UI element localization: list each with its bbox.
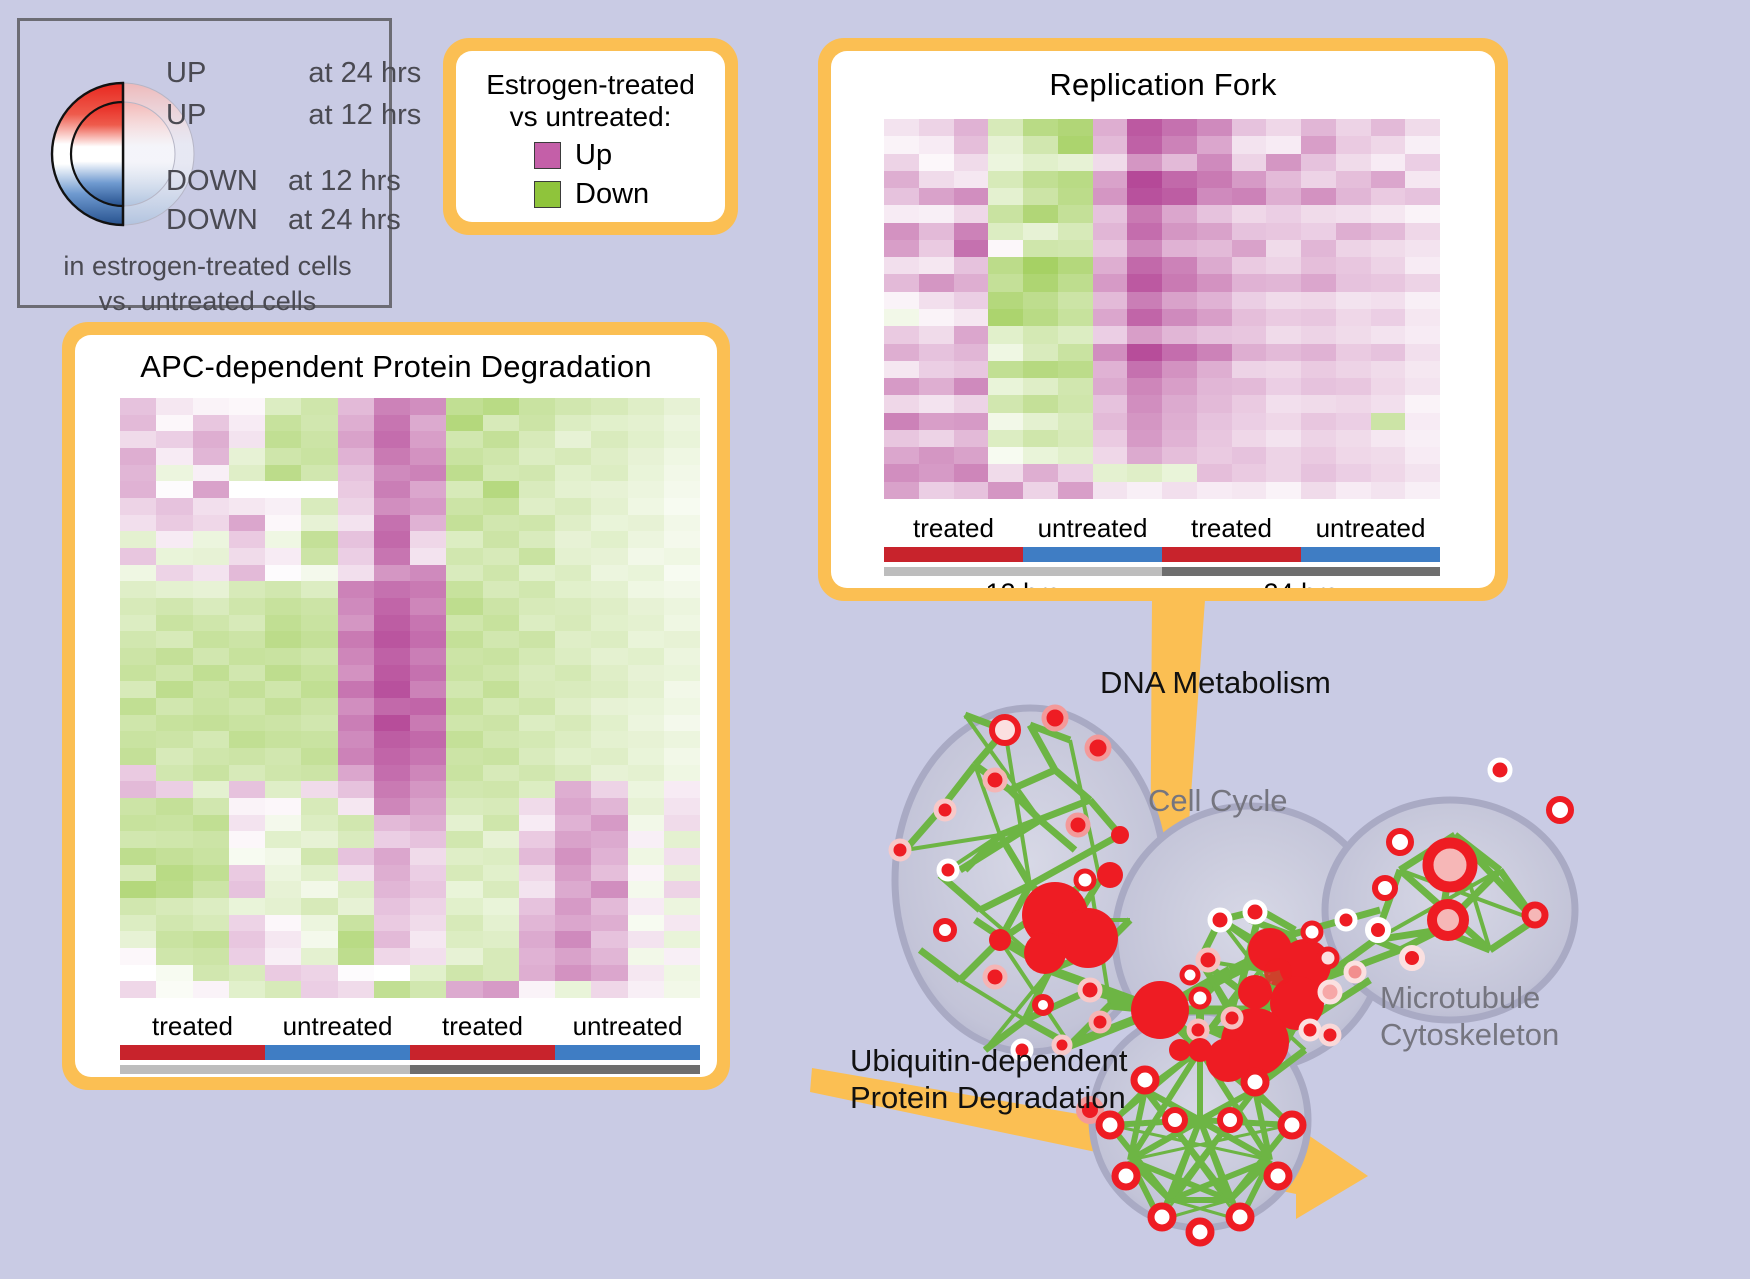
heatmap-cell <box>156 415 192 432</box>
heatmap-cell <box>1093 136 1128 153</box>
heatmap-cell <box>1197 430 1232 447</box>
heatmap-cell <box>628 448 664 465</box>
heatmap-cell <box>1405 395 1440 412</box>
heatmap-cell <box>591 665 627 682</box>
heatmap-cell <box>338 498 374 515</box>
heatmap-cell <box>265 615 301 632</box>
time-bar-rf-0 <box>884 567 1162 576</box>
heatmap-cell <box>1371 361 1406 378</box>
heatmap-cell <box>519 415 555 432</box>
heatmap-cell <box>988 395 1023 412</box>
heatmap-cell <box>1266 447 1301 464</box>
heatmap-cell <box>519 865 555 882</box>
heatmap-cell <box>410 415 446 432</box>
heatmap-cell <box>483 481 519 498</box>
heatmap-cell <box>591 598 627 615</box>
heatmap-cell <box>988 240 1023 257</box>
heatmap-cell <box>265 498 301 515</box>
heatmap-cell <box>1405 205 1440 222</box>
heatmap-cell <box>374 848 410 865</box>
heatmap-cell <box>265 798 301 815</box>
heatmap-cell <box>519 498 555 515</box>
heatmap-cell <box>1371 395 1406 412</box>
heatmap-cell <box>591 698 627 715</box>
heatmap-cell <box>664 431 700 448</box>
heatmap-cell <box>1232 395 1267 412</box>
heatmap-cell <box>446 481 482 498</box>
heatmap-cell <box>483 965 519 982</box>
heatmap-cell <box>301 548 337 565</box>
heatmap-cell <box>1232 326 1267 343</box>
heatmap-cell <box>1162 464 1197 481</box>
panel-title-replication-fork: Replication Fork <box>831 51 1495 103</box>
heatmap-cell <box>1405 309 1440 326</box>
heatmap-cell <box>1301 430 1336 447</box>
heatmap-cell <box>120 831 156 848</box>
heatmap-cell <box>374 798 410 815</box>
heatmap-cell <box>1266 344 1301 361</box>
time-bar-apc-1 <box>410 1065 700 1074</box>
heatmap-cell <box>664 898 700 915</box>
heatmap-cell <box>120 431 156 448</box>
heatmap-cell <box>1197 395 1232 412</box>
heatmap-cell <box>1371 430 1406 447</box>
heatmap-cell <box>1197 344 1232 361</box>
heatmap-cell <box>229 398 265 415</box>
heatmap-cell <box>120 665 156 682</box>
heatmap-cell <box>483 415 519 432</box>
heatmap-cell <box>374 615 410 632</box>
heatmap-cell <box>555 548 591 565</box>
heatmap-cell <box>1405 464 1440 481</box>
heatmap-cell <box>1336 309 1371 326</box>
heatmap-cell <box>229 598 265 615</box>
heatmap-cell <box>374 648 410 665</box>
group-labels-rf: treated untreated treated untreated <box>884 513 1440 544</box>
heatmap-cell <box>884 447 919 464</box>
heatmap-cell <box>555 415 591 432</box>
heatmap-cell <box>555 498 591 515</box>
heatmap-cell <box>519 598 555 615</box>
heatmap-cell <box>954 205 989 222</box>
heatmap-cell <box>265 815 301 832</box>
heatmap-cell <box>555 748 591 765</box>
heatmap-cell <box>1023 395 1058 412</box>
heatmap-cell <box>483 431 519 448</box>
heatmap-cell <box>193 781 229 798</box>
heatmap-cell <box>954 344 989 361</box>
heatmap-cell <box>1093 395 1128 412</box>
heatmap-cell <box>483 865 519 882</box>
heatmap-cell <box>265 665 301 682</box>
heatmap-cell <box>1093 430 1128 447</box>
heatmap-cell <box>1162 344 1197 361</box>
heatmap-cell <box>1301 309 1336 326</box>
heatmap-cell <box>1266 223 1301 240</box>
heatmap-cell <box>1023 344 1058 361</box>
heatmap-cell <box>1301 482 1336 499</box>
heatmap-cell <box>954 292 989 309</box>
heatmap-cell <box>519 431 555 448</box>
heatmap-cell <box>1371 378 1406 395</box>
heatmap-cell <box>1162 447 1197 464</box>
heatmap-cell <box>193 698 229 715</box>
heatmap-cell <box>338 848 374 865</box>
heatmap-cell <box>1162 257 1197 274</box>
heatmap-cell <box>193 915 229 932</box>
heatmap-cell <box>1023 413 1058 430</box>
heatmap-cell <box>1058 136 1093 153</box>
heatmap-cell <box>1266 274 1301 291</box>
group-label-rf-3: untreated <box>1301 513 1440 544</box>
heatmap-cell <box>193 431 229 448</box>
heatmap-cell <box>954 413 989 430</box>
heatmap-cell <box>1336 395 1371 412</box>
heatmap-cell <box>628 631 664 648</box>
heatmap-cell <box>519 615 555 632</box>
heatmap-cell <box>229 615 265 632</box>
heatmap-cell <box>884 188 919 205</box>
heatmap-cell <box>1127 154 1162 171</box>
heatmap-cell <box>374 631 410 648</box>
heatmap-cell <box>265 515 301 532</box>
heatmap-cell <box>1093 223 1128 240</box>
heatmap-cell <box>1232 188 1267 205</box>
heatmap-cell <box>338 898 374 915</box>
heatmap-cell <box>120 465 156 482</box>
heatmap-cell <box>1023 119 1058 136</box>
heatmap-cell <box>591 615 627 632</box>
heatmap-cell <box>555 865 591 882</box>
heatmap-cell <box>120 498 156 515</box>
group-label-rf-1: untreated <box>1023 513 1162 544</box>
heatmap-cell <box>555 615 591 632</box>
heatmap-cell <box>374 415 410 432</box>
heatmap-cell <box>446 431 482 448</box>
heatmap-cell <box>156 465 192 482</box>
heatmap-cell <box>156 581 192 598</box>
heatmap-cell <box>555 948 591 965</box>
heatmap-cell <box>193 948 229 965</box>
heatmap-cell <box>555 798 591 815</box>
heatmap-replication-fork <box>884 119 1440 499</box>
heatmap-cell <box>1371 154 1406 171</box>
heatmap-cell <box>301 598 337 615</box>
heatmap-cell <box>555 681 591 698</box>
heatmap-cell <box>1336 136 1371 153</box>
heatmap-cell <box>664 515 700 532</box>
heatmap-cell <box>1093 119 1128 136</box>
heatmap-cell <box>1093 344 1128 361</box>
heatmap-cell <box>156 898 192 915</box>
heatmap-cell <box>338 731 374 748</box>
heatmap-cell <box>1371 136 1406 153</box>
heatmap-cell <box>988 119 1023 136</box>
heatmap-cell <box>229 881 265 898</box>
heatmap-cell <box>1336 240 1371 257</box>
heatmap-cell <box>156 965 192 982</box>
heatmap-cell <box>229 431 265 448</box>
heatmap-cell <box>193 765 229 782</box>
heatmap-cell <box>265 648 301 665</box>
heatmap-cell <box>1266 205 1301 222</box>
heatmap-cell <box>301 981 337 998</box>
heatmap-cell <box>265 698 301 715</box>
group-bar-apc-1 <box>265 1045 410 1060</box>
heatmap-cell <box>301 931 337 948</box>
heatmap-cell <box>664 715 700 732</box>
heatmap-cell <box>301 448 337 465</box>
heatmap-cell <box>519 681 555 698</box>
heatmap-cell <box>410 781 446 798</box>
heatmap-cell <box>988 292 1023 309</box>
heatmap-cell <box>884 326 919 343</box>
heatmap-cell <box>193 931 229 948</box>
heatmap-cell <box>1127 274 1162 291</box>
heatmap-cell <box>1023 292 1058 309</box>
heatmap-cell <box>1301 274 1336 291</box>
heatmap-cell <box>1197 205 1232 222</box>
heatmap-cell <box>628 748 664 765</box>
heatmap-cell <box>483 648 519 665</box>
heatmap-cell <box>1301 205 1336 222</box>
heatmap-cell <box>1127 413 1162 430</box>
heatmap-cell <box>338 531 374 548</box>
heatmap-cell <box>374 881 410 898</box>
heatmap-cell <box>519 715 555 732</box>
heatmap-cell <box>884 430 919 447</box>
network-label-microtubule-cytoskeleton: Microtubule Cytoskeleton <box>1380 980 1559 1053</box>
heatmap-cell <box>591 548 627 565</box>
heatmap-cell <box>1301 119 1336 136</box>
heatmap-cell <box>1058 240 1093 257</box>
heatmap-cell <box>1371 223 1406 240</box>
heatmap-cell <box>338 915 374 932</box>
heatmap-cell <box>265 831 301 848</box>
heatmap-cell <box>1371 309 1406 326</box>
heatmap-cell <box>591 681 627 698</box>
heatmap-cell <box>1336 413 1371 430</box>
group-bar-apc-3 <box>555 1045 700 1060</box>
heatmap-cell <box>1058 326 1093 343</box>
heatmap-cell <box>628 965 664 982</box>
heatmap-cell <box>193 415 229 432</box>
heatmap-cell <box>156 931 192 948</box>
heatmap-cell <box>519 831 555 848</box>
heatmap-cell <box>446 831 482 848</box>
heatmap-cell <box>1197 326 1232 343</box>
heatmap-cell <box>1405 482 1440 499</box>
heatmap-cell <box>156 698 192 715</box>
heatmap-cell <box>193 581 229 598</box>
heatmap-cell <box>120 398 156 415</box>
heatmap-cell <box>156 748 192 765</box>
heatmap-cell <box>664 681 700 698</box>
heatmap-cell <box>1093 240 1128 257</box>
heatmap-cell <box>156 731 192 748</box>
heatmap-cell <box>1301 257 1336 274</box>
group-bar-rf-2 <box>1162 547 1301 562</box>
heatmap-cell <box>374 481 410 498</box>
heatmap-cell <box>120 681 156 698</box>
heatmap-cell <box>374 465 410 482</box>
heatmap-cell <box>1405 326 1440 343</box>
heatmap-cell <box>1127 361 1162 378</box>
heatmap-cell <box>410 581 446 598</box>
heatmap-cell <box>1162 223 1197 240</box>
heatmap-cell <box>120 731 156 748</box>
heatmap-cell <box>301 398 337 415</box>
heatmap-cell <box>1162 326 1197 343</box>
heatmap-cell <box>555 665 591 682</box>
time-label-rf-0: 12 hrs <box>884 578 1162 588</box>
heatmap-cell <box>446 781 482 798</box>
heatmap-cell <box>483 498 519 515</box>
heatmap-cell <box>156 431 192 448</box>
heatmap-cell <box>193 398 229 415</box>
heatmap-cell <box>193 748 229 765</box>
heatmap-cell <box>1371 464 1406 481</box>
heatmap-cell <box>555 581 591 598</box>
heatmap-cell <box>193 881 229 898</box>
heatmap-cell <box>1197 274 1232 291</box>
heatmap-cell <box>919 395 954 412</box>
heatmap-cell <box>120 565 156 582</box>
heatmap-cell <box>338 565 374 582</box>
heatmap-cell <box>265 398 301 415</box>
heatmap-cell <box>555 531 591 548</box>
heatmap-cell <box>628 831 664 848</box>
heatmap-cell <box>1162 430 1197 447</box>
heatmap-cell <box>664 698 700 715</box>
heatmap-cell <box>1093 482 1128 499</box>
heatmap-cell <box>483 681 519 698</box>
heatmap-cell <box>410 631 446 648</box>
heatmap-cell <box>555 631 591 648</box>
heatmap-cell <box>156 915 192 932</box>
heatmap-cell <box>519 665 555 682</box>
heatmap-cell <box>1023 430 1058 447</box>
heatmap-cell <box>1197 482 1232 499</box>
heatmap-cell <box>1093 292 1128 309</box>
heatmap-cell <box>229 981 265 998</box>
heatmap-cell <box>988 257 1023 274</box>
heatmap-cell <box>301 948 337 965</box>
heatmap-cell <box>628 515 664 532</box>
heatmap-cell <box>446 965 482 982</box>
network-hub-node <box>1131 981 1189 1039</box>
heatmap-cell <box>374 448 410 465</box>
heatmap-cell <box>664 915 700 932</box>
heatmap-cell <box>301 531 337 548</box>
heatmap-cell <box>591 898 627 915</box>
heatmap-cell <box>193 681 229 698</box>
heatmap-cell <box>1371 413 1406 430</box>
heatmap-cell <box>229 548 265 565</box>
heatmap-cell <box>446 648 482 665</box>
heatmap-cell <box>1023 447 1058 464</box>
heatmap-cell <box>1301 240 1336 257</box>
heatmap-cell <box>301 815 337 832</box>
heatmap-cell <box>591 398 627 415</box>
heatmap-cell <box>374 498 410 515</box>
heatmap-cell <box>1266 240 1301 257</box>
pathway-network-diagram <box>800 620 1750 1279</box>
heatmap-cell <box>265 931 301 948</box>
heatmap-cell <box>988 205 1023 222</box>
heatmap-cell <box>410 531 446 548</box>
heatmap-cell <box>1093 188 1128 205</box>
heatmap-cell <box>954 136 989 153</box>
heatmap-cell <box>229 481 265 498</box>
heatmap-cell <box>954 395 989 412</box>
heatmap-cell <box>628 498 664 515</box>
heatmap-cell <box>265 731 301 748</box>
heatmap-cell <box>1301 395 1336 412</box>
heatmap-cell <box>884 223 919 240</box>
heatmap-cell <box>1232 223 1267 240</box>
heatmap-cell <box>628 781 664 798</box>
heatmap-cell <box>1232 447 1267 464</box>
heatmap-cell <box>229 648 265 665</box>
heatmap-cell <box>954 119 989 136</box>
heatmap-cell <box>1232 430 1267 447</box>
heatmap-cell <box>1232 240 1267 257</box>
heatmap-cell <box>301 581 337 598</box>
heatmap-cell <box>229 865 265 882</box>
heatmap-cell <box>954 154 989 171</box>
heatmap-cell <box>954 464 989 481</box>
heatmap-cell <box>884 274 919 291</box>
heatmap-cell <box>483 581 519 598</box>
heatmap-cell <box>1371 171 1406 188</box>
heatmap-cell <box>120 448 156 465</box>
heatmap-cell <box>483 531 519 548</box>
heatmap-cell <box>1336 223 1371 240</box>
heatmap-cell <box>374 748 410 765</box>
heatmap-cell <box>265 881 301 898</box>
heatmap-cell <box>1023 326 1058 343</box>
heatmap-cell <box>664 531 700 548</box>
heatmap-cell <box>954 223 989 240</box>
heatmap-cell <box>120 748 156 765</box>
heatmap-cell <box>628 398 664 415</box>
heatmap-cell <box>555 398 591 415</box>
heatmap-cell <box>1336 430 1371 447</box>
heatmap-cell <box>1301 188 1336 205</box>
heatmap-cell <box>1023 361 1058 378</box>
heatmap-cell <box>265 765 301 782</box>
heatmap-cell <box>410 465 446 482</box>
heatmap-cell <box>919 154 954 171</box>
heatmap-cell <box>519 548 555 565</box>
heatmap-cell <box>265 848 301 865</box>
heatmap-cell <box>988 188 1023 205</box>
heatmap-cell <box>1266 171 1301 188</box>
heatmap-cell <box>193 598 229 615</box>
heatmap-cell <box>591 531 627 548</box>
heatmap-cell <box>1162 413 1197 430</box>
heatmap-cell <box>338 715 374 732</box>
heatmap-cell <box>664 448 700 465</box>
heatmap-cell <box>919 292 954 309</box>
heatmap-cell <box>628 531 664 548</box>
heatmap-cell <box>1232 309 1267 326</box>
heatmap-cell <box>1301 171 1336 188</box>
heatmap-cell <box>120 648 156 665</box>
panel-title-apc: APC-dependent Protein Degradation <box>75 335 717 385</box>
heatmap-cell <box>519 531 555 548</box>
